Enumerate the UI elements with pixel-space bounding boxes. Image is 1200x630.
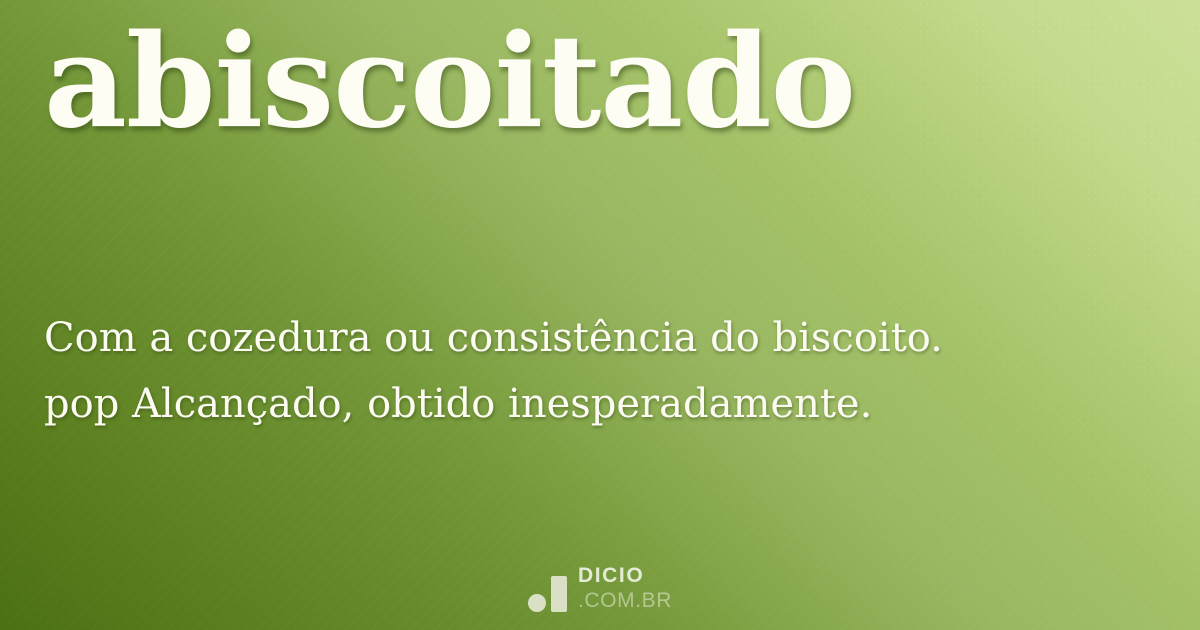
logo-circle-icon: [528, 594, 546, 612]
headword-title: abiscoitado: [44, 18, 855, 146]
card-content: abiscoitado Com a cozedura ou consistênc…: [0, 0, 1200, 630]
logo-domain-suffix: .COM.BR: [578, 590, 672, 611]
dictionary-share-card: abiscoitado Com a cozedura ou consistênc…: [0, 0, 1200, 630]
logo-brand-name: DICIO: [578, 565, 672, 586]
definition-line: pop Alcançado, obtido inesperadamente.: [44, 376, 1154, 432]
logo-bar-icon: [551, 576, 567, 612]
dicio-logo-mark-icon: [528, 574, 567, 612]
dicio-logo-text: DICIO .COM.BR: [578, 565, 672, 612]
dicio-logo: DICIO .COM.BR: [0, 565, 1200, 612]
definition-list: Com a cozedura ou consistência do biscoi…: [44, 310, 1154, 442]
definition-line: Com a cozedura ou consistência do biscoi…: [44, 310, 1154, 366]
